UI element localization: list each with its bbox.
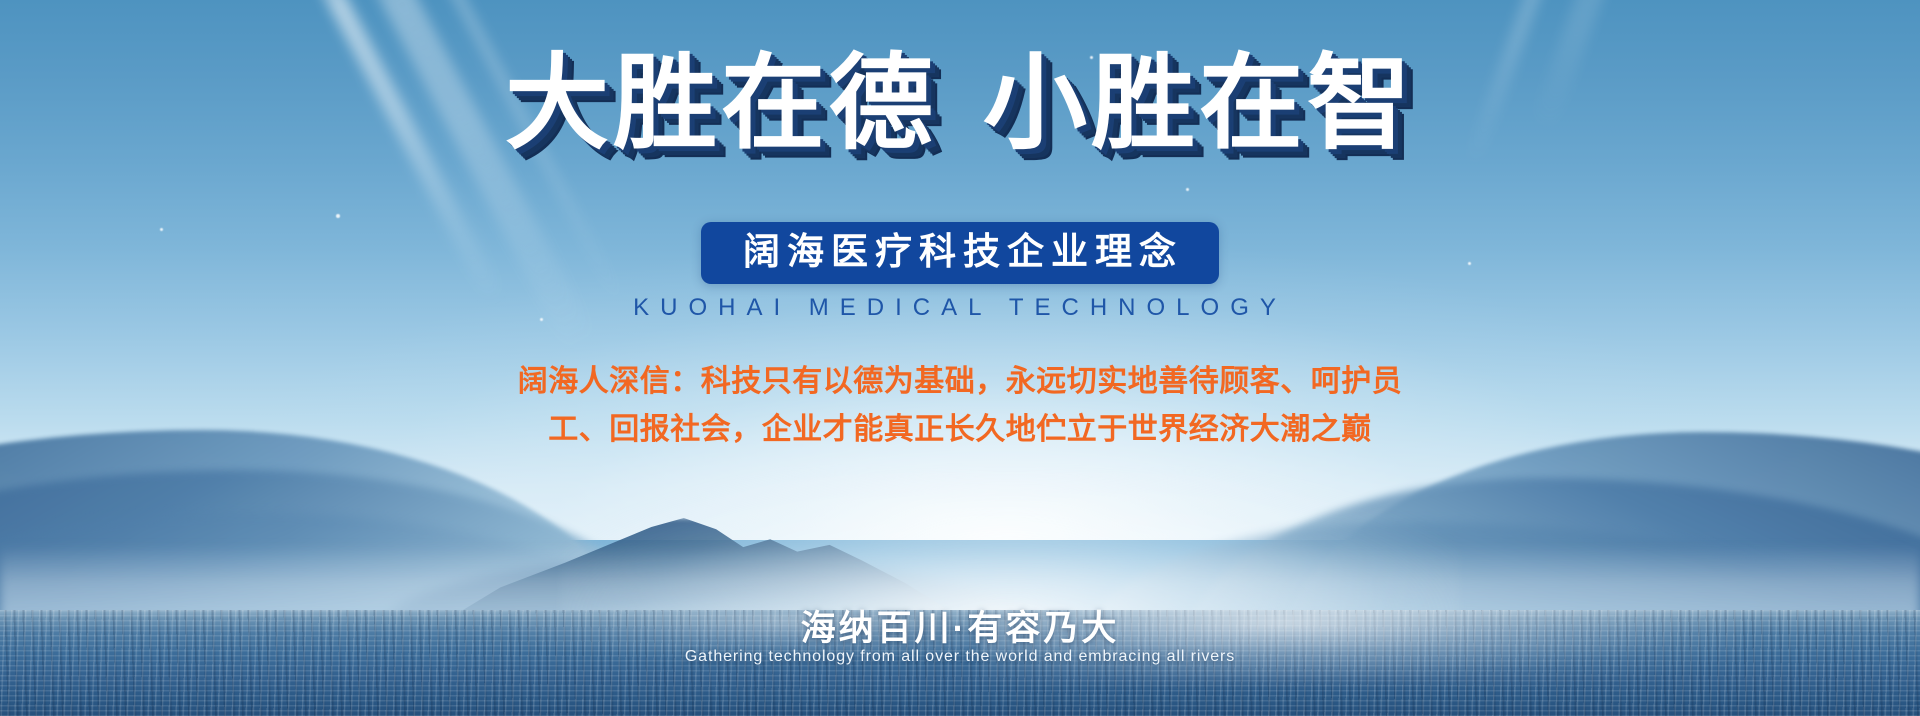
footer-slogan-english: Gathering technology from all over the w… bbox=[0, 648, 1920, 666]
footer-slogan-chinese: 海纳百川·有容乃大 bbox=[0, 600, 1920, 651]
english-subtitle: KUOHAI MEDICAL TECHNOLOGY bbox=[0, 294, 1920, 322]
headline-right: 小胜在智 bbox=[983, 46, 1415, 162]
philosophy-paragraph-line-1: 阔海人深信：科技只有以德为基础，永远切实地善待顾客、呵护员 bbox=[0, 358, 1920, 406]
badge-container: 阔海医疗科技企业理念 bbox=[0, 222, 1920, 284]
philosophy-paragraph-line-2: 工、回报社会，企业才能真正长久地伫立于世界经济大潮之巅 bbox=[0, 406, 1920, 454]
promotional-banner: 大胜在德小胜在智 阔海医疗科技企业理念 KUOHAI MEDICAL TECHN… bbox=[0, 0, 1920, 716]
headline-left: 大胜在德 bbox=[505, 46, 937, 162]
headline: 大胜在德小胜在智 bbox=[0, 52, 1920, 156]
banner-content: 大胜在德小胜在智 阔海医疗科技企业理念 KUOHAI MEDICAL TECHN… bbox=[0, 0, 1920, 716]
philosophy-paragraph: 阔海人深信：科技只有以德为基础，永远切实地善待顾客、呵护员 工、回报社会，企业才… bbox=[0, 358, 1920, 454]
company-philosophy-badge: 阔海医疗科技企业理念 bbox=[701, 222, 1219, 284]
